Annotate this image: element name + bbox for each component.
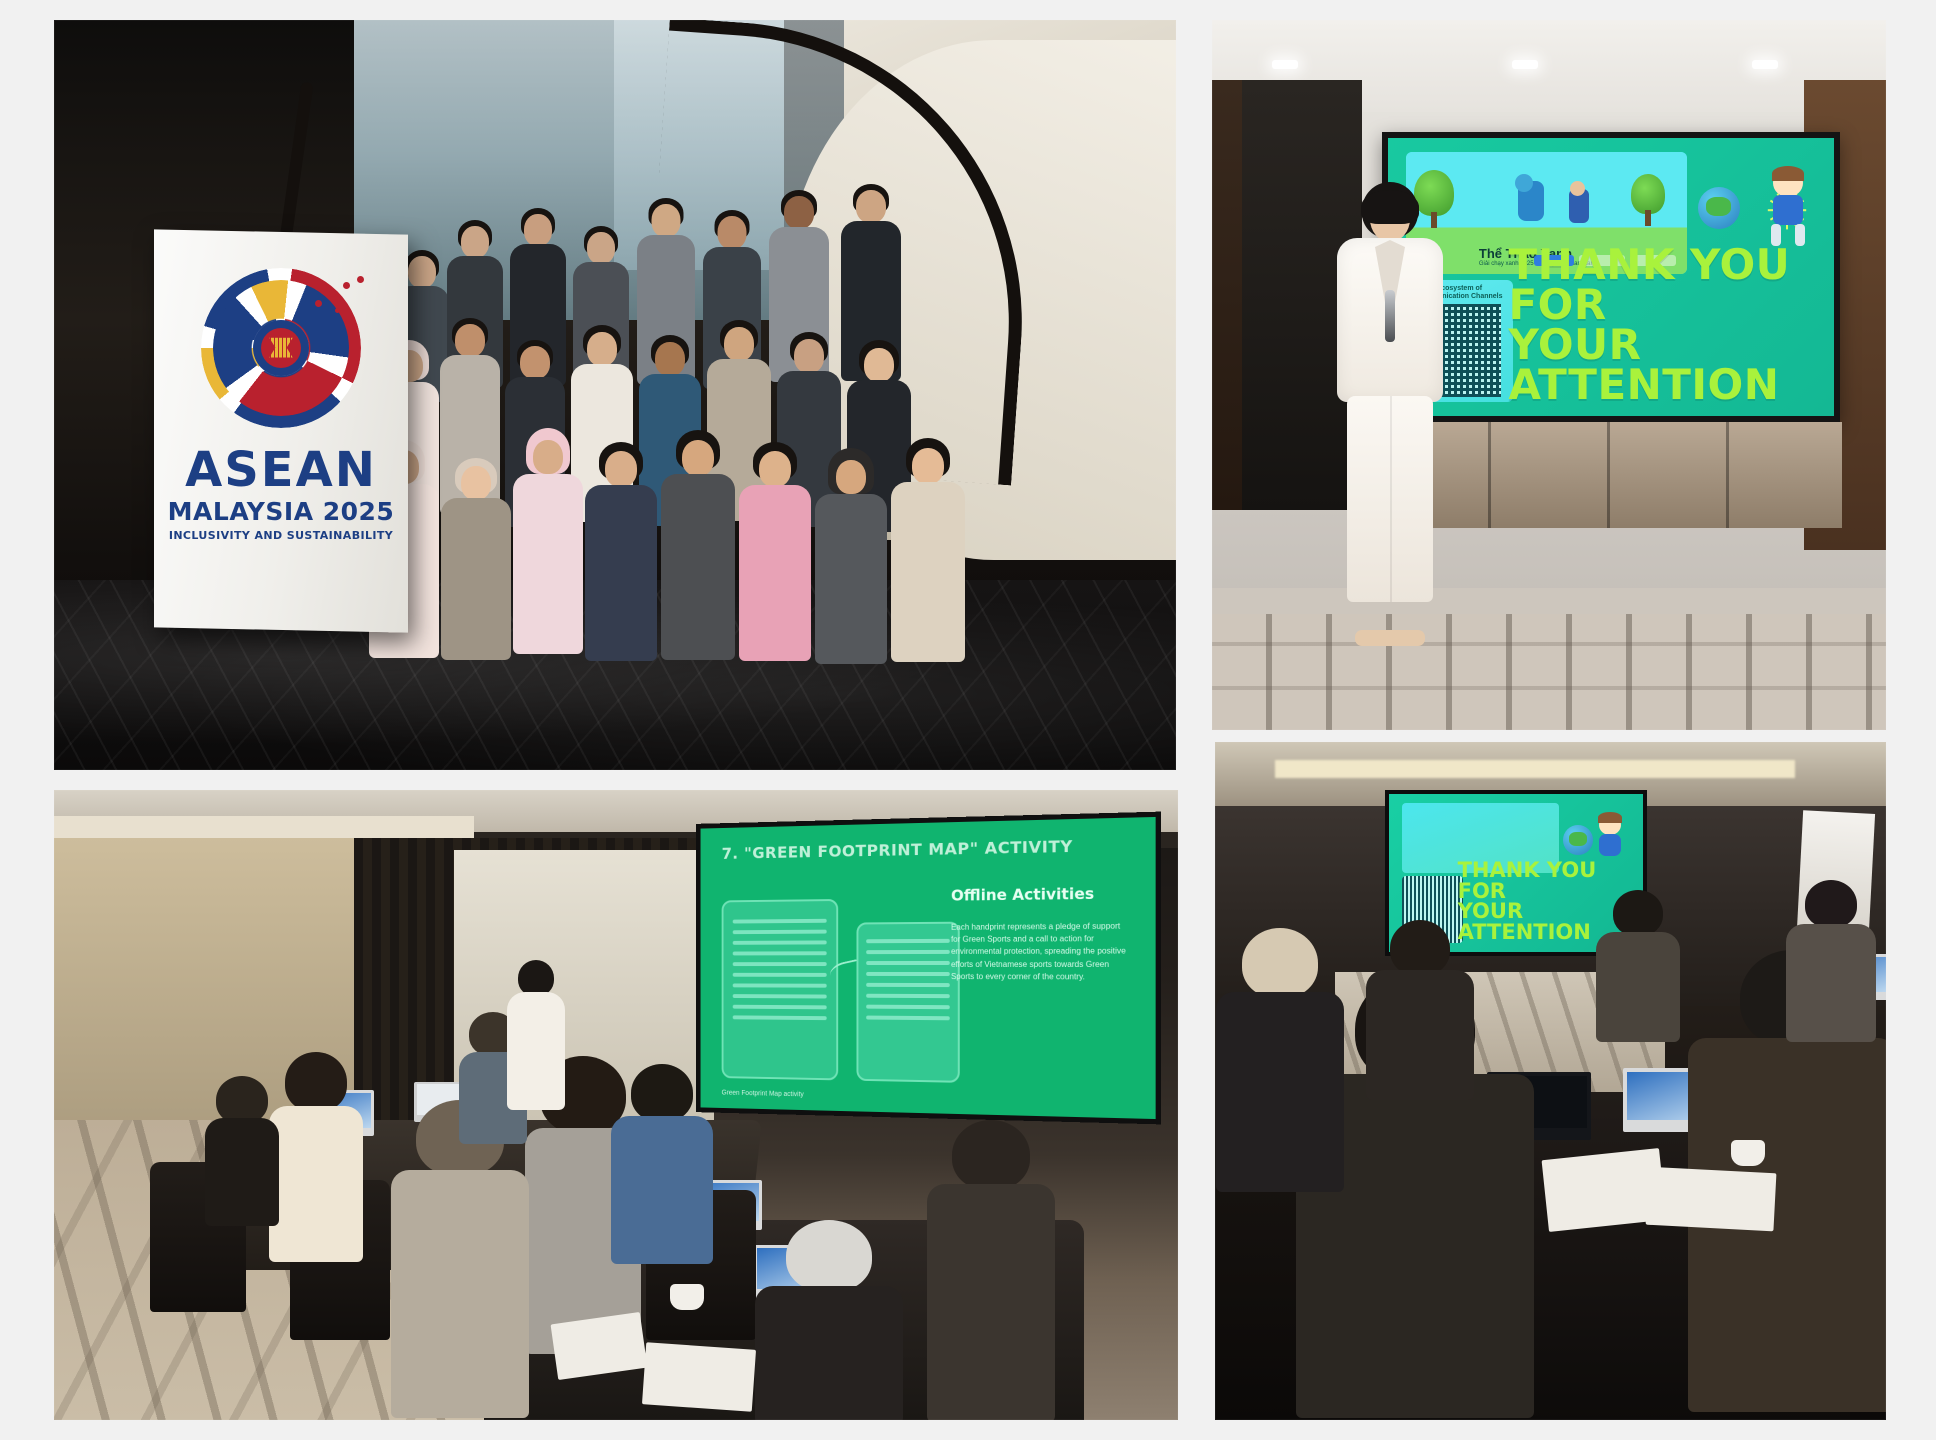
projection-screen: 7. "GREEN FOOTPRINT MAP" ACTIVITY Offlin…: [696, 812, 1161, 1125]
photo-collage: ASEAN MALAYSIA 2025 INCLUSIVITY AND SUST…: [0, 0, 1936, 1440]
slide-title: 7. "GREEN FOOTPRINT MAP" ACTIVITY: [722, 836, 1131, 864]
wood-panel-left: [1212, 80, 1242, 510]
sign-tagline: INCLUSIVITY AND SUSTAINABILITY: [168, 530, 395, 541]
delegate: [1785, 880, 1877, 1040]
projection-screen: Thể Thao Xanh Giải chạy xanh 2025 - Vì m…: [1382, 132, 1840, 422]
document: [1646, 1167, 1777, 1232]
delegate: [1595, 890, 1681, 1040]
thank-you-slide: Thể Thao Xanh Giải chạy xanh 2025 - Vì m…: [1388, 138, 1834, 416]
logo-dots-icon: [309, 274, 365, 318]
participant: [390, 1100, 530, 1420]
delegate: [1215, 928, 1345, 1188]
ceiling-light: [1752, 60, 1778, 69]
patterned-carpet: [1212, 614, 1886, 730]
cove-light: [1275, 760, 1795, 778]
sign-subtitle: MALAYSIA 2025: [168, 499, 395, 524]
slide-body-text: Each handprint represents a pledge of su…: [951, 920, 1131, 984]
participant: [754, 1220, 904, 1420]
green-footprint-slide: 7. "GREEN FOOTPRINT MAP" ACTIVITY Offlin…: [701, 817, 1156, 1119]
slide-footnote: Green Footprint Map activity: [722, 1090, 804, 1099]
delegate: [1365, 920, 1475, 1100]
ceiling-light: [1512, 60, 1538, 69]
presenter: [1330, 182, 1450, 634]
speaker-photo: Thể Thao Xanh Giải chạy xanh 2025 - Vì m…: [1212, 20, 1886, 730]
participant: [610, 1064, 714, 1264]
delegates-photo: THANK YOU FOR YOUR ATTENTION: [1215, 742, 1886, 1420]
participant: [204, 1076, 280, 1226]
ceiling-light: [1272, 60, 1298, 69]
coffee-cup: [1731, 1140, 1765, 1166]
workshop-room-photo: 7. "GREEN FOOTPRINT MAP" ACTIVITY Offlin…: [54, 790, 1178, 1420]
thank-you-headline: THANK YOU FOR YOUR ATTENTION: [1508, 245, 1825, 405]
person: [890, 438, 966, 664]
coffee-cup: [670, 1284, 704, 1310]
participant: [268, 1052, 364, 1262]
cove-light: [54, 816, 474, 838]
delegate-group: [384, 190, 1004, 660]
asean-logo-icon: [201, 268, 361, 428]
group-photo: ASEAN MALAYSIA 2025 INCLUSIVITY AND SUST…: [54, 20, 1176, 770]
person: [738, 442, 812, 664]
asean-signboard: ASEAN MALAYSIA 2025 INCLUSIVITY AND SUST…: [154, 229, 408, 632]
person: [814, 448, 888, 666]
person: [440, 458, 512, 663]
sign-title: ASEAN: [168, 446, 395, 494]
slide-section-heading: Offline Activities: [951, 884, 1131, 905]
person: [660, 430, 736, 662]
person: [512, 428, 584, 656]
boy-mascot-icon: [1765, 169, 1811, 247]
presenter: [506, 960, 566, 1110]
phone-mockup: [722, 899, 838, 1080]
microphone-icon: [1385, 290, 1395, 342]
participant: [926, 1120, 1056, 1420]
floor-band: [1212, 588, 1886, 614]
phone-mockup-secondary: [856, 921, 959, 1083]
document: [642, 1342, 756, 1412]
globe-mascot-icon: [1698, 187, 1740, 229]
person: [584, 442, 658, 664]
